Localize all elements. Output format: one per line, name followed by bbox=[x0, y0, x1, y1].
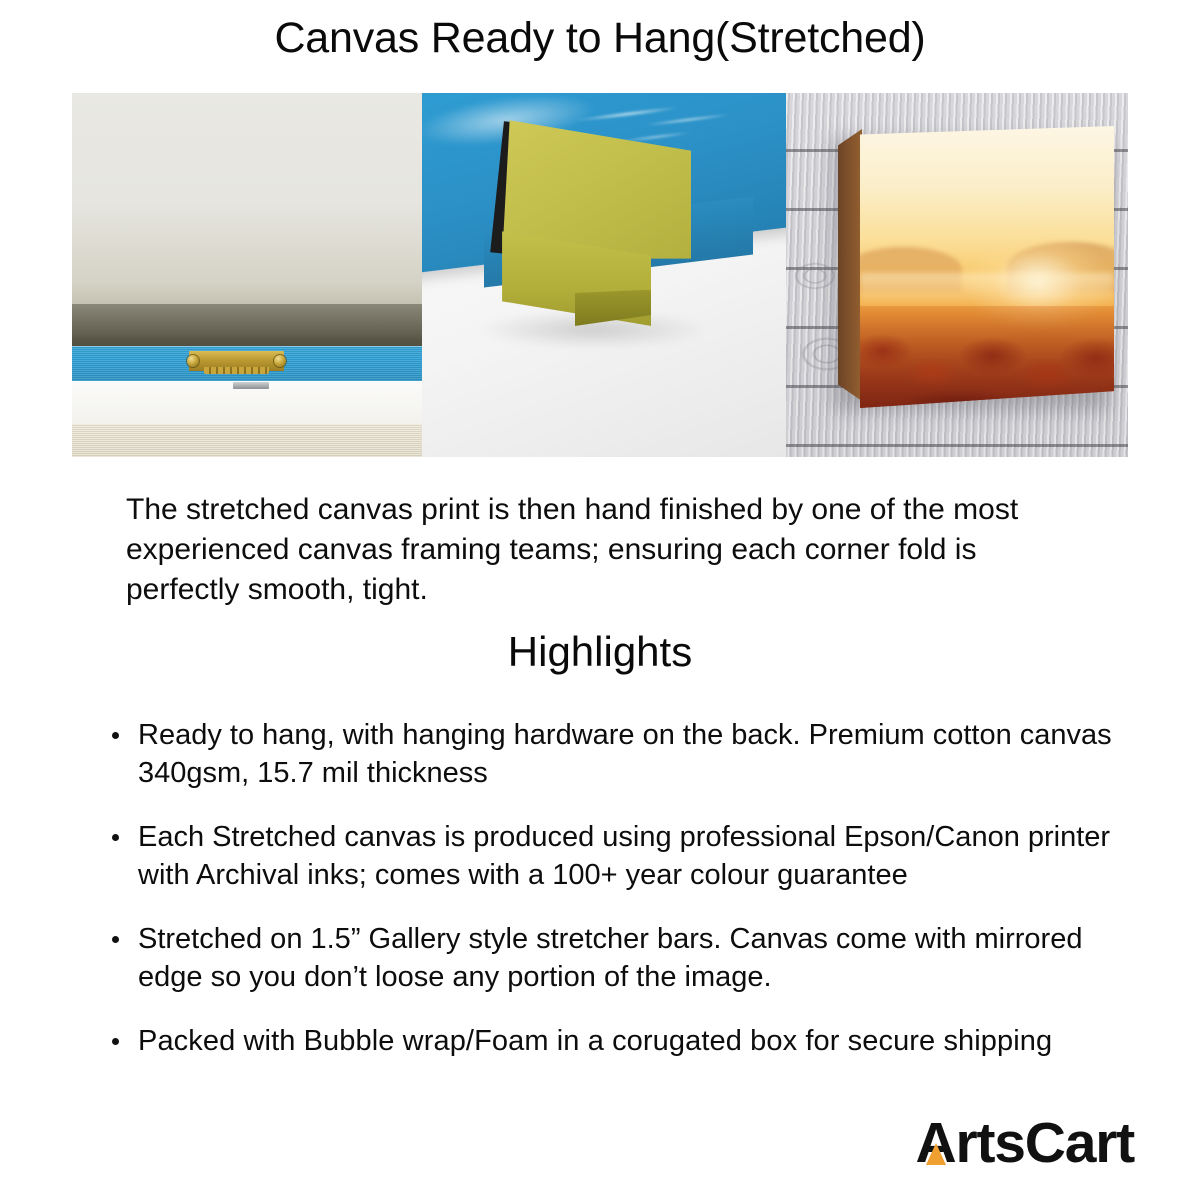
logo-wordmark-rest: rtsCart bbox=[956, 1115, 1135, 1172]
gallery-image-canvas-corner-fold bbox=[422, 93, 786, 457]
canvas-back-shadow bbox=[72, 304, 422, 348]
hanger-teeth bbox=[204, 367, 268, 374]
list-item: Packed with Bubble wrap/Foam in a coruga… bbox=[108, 1022, 1118, 1060]
page-title: Canvas Ready to Hang(Stretched) bbox=[0, 16, 1200, 61]
list-item: Each Stretched canvas is produced using … bbox=[108, 818, 1118, 894]
list-item: Stretched on 1.5” Gallery style stretche… bbox=[108, 920, 1118, 996]
list-item-text: Ready to hang, with hanging hardware on … bbox=[138, 719, 1112, 789]
bullet-dot-icon bbox=[112, 732, 119, 739]
list-item-text: Each Stretched canvas is produced using … bbox=[138, 821, 1110, 891]
list-item-text: Stretched on 1.5” Gallery style stretche… bbox=[138, 923, 1082, 993]
logo-triangle-icon bbox=[926, 1143, 946, 1165]
hanger-screw-right bbox=[274, 355, 286, 367]
sawtooth-hanger-icon bbox=[189, 351, 284, 371]
list-item-text: Packed with Bubble wrap/Foam in a coruga… bbox=[138, 1025, 1052, 1057]
list-item: Ready to hang, with hanging hardware on … bbox=[108, 716, 1118, 792]
bullet-dot-icon bbox=[112, 1038, 119, 1045]
bullet-dot-icon bbox=[112, 834, 119, 841]
product-image-gallery bbox=[72, 93, 1128, 457]
intro-paragraph: The stretched canvas print is then hand … bbox=[126, 490, 1076, 610]
canvas-sunset-print bbox=[860, 126, 1114, 408]
hanger-screw-left bbox=[187, 355, 199, 367]
canvas-cotton-texture bbox=[72, 424, 422, 457]
print-foliage bbox=[860, 306, 1114, 408]
gallery-image-canvas-back-hanger bbox=[72, 93, 422, 457]
bullet-dot-icon bbox=[112, 936, 119, 943]
artscart-logo: A rtsCart bbox=[916, 1115, 1134, 1172]
highlights-list: Ready to hang, with hanging hardware on … bbox=[108, 716, 1118, 1086]
wall-nail bbox=[233, 382, 269, 389]
logo-letter-a: A bbox=[916, 1115, 956, 1172]
gallery-image-canvas-on-wall bbox=[786, 93, 1128, 457]
highlights-heading: Highlights bbox=[0, 628, 1200, 676]
canvas-wrapped-edge bbox=[838, 129, 862, 401]
